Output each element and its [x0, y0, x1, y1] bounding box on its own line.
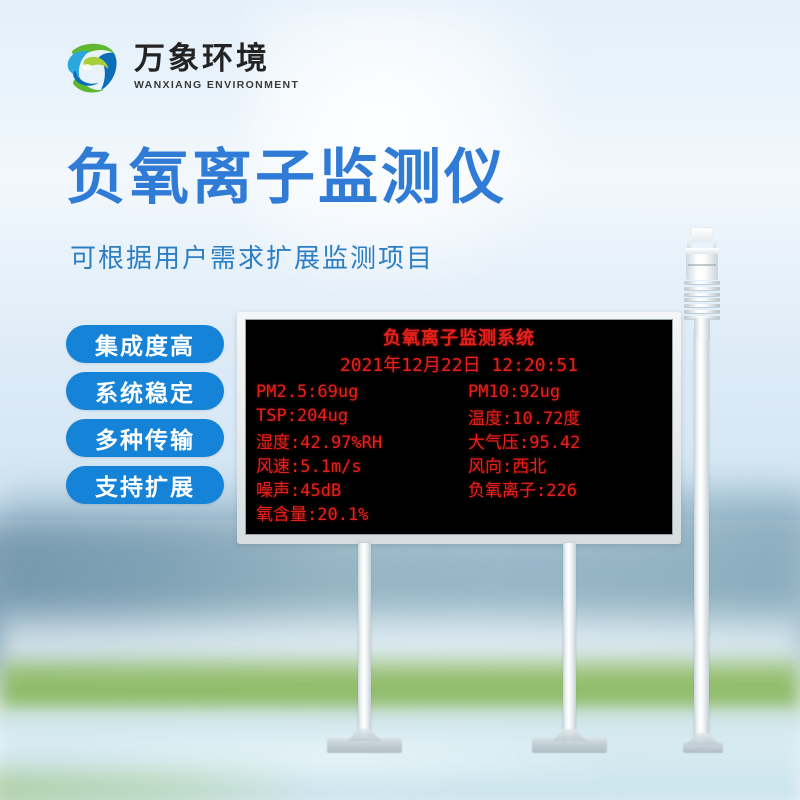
reading-tsp: TSP:204ug: [256, 404, 458, 428]
shield-plate: [684, 293, 720, 296]
feature-badge-list: 集成度高 系统稳定 多种传输 支持扩展: [66, 325, 224, 504]
led-readings-grid: PM2.5:69ug PM10:92ug TSP:204ug 温度:10.72度…: [248, 380, 670, 524]
sensor-mast-pole: [694, 330, 709, 747]
reading-pressure: 大气压:95.42: [462, 428, 664, 452]
reading-wind-direction: 风向:西北: [462, 452, 664, 476]
page-title: 负氧离子监测仪: [66, 148, 507, 208]
feature-badge-label: 集成度高: [95, 327, 195, 361]
feature-badge: 系统稳定: [66, 372, 224, 410]
sensor-top-cap: [691, 228, 713, 241]
led-screen: 负氧离子监测系统 2021年12月22日 12:20:51 PM2.5:69ug…: [248, 322, 670, 532]
reading-noise: 噪声:45dB: [256, 476, 458, 500]
brand-logo: 万象环境 WANXIANG ENVIRONMENT: [62, 36, 299, 98]
pole-base-plate-right: [532, 738, 607, 753]
shield-plate: [684, 304, 720, 307]
globe-swoosh-icon: [62, 36, 124, 98]
display-support-pole-right: [563, 543, 576, 743]
feature-badge: 支持扩展: [66, 466, 224, 504]
shield-plate: [684, 298, 720, 301]
brand-name-en: WANXIANG ENVIRONMENT: [134, 79, 299, 91]
sensor-main-body: [686, 254, 718, 280]
product-poster: 万象环境 WANXIANG ENVIRONMENT 负氧离子监测仪 可根据用户需…: [0, 0, 800, 800]
page-subtitle: 可根据用户需求扩展监测项目: [70, 238, 434, 275]
reading-pm25: PM2.5:69ug: [256, 380, 458, 404]
feature-badge-label: 支持扩展: [95, 468, 195, 502]
reading-oxygen-content: 氧含量:20.1%: [256, 500, 458, 524]
feature-badge-label: 多种传输: [95, 421, 195, 455]
pole-base-plate-left: [327, 738, 402, 753]
ultrasonic-weather-sensor: [682, 228, 722, 338]
brand-name-cn: 万象环境: [134, 43, 299, 76]
shield-plate: [684, 310, 720, 313]
reading-negative-oxygen-ion: 负氧离子:226: [462, 476, 664, 500]
display-support-pole-left: [358, 543, 371, 743]
reading-humidity: 湿度:42.97%RH: [256, 428, 458, 452]
feature-badge: 集成度高: [66, 325, 224, 363]
led-screen-datetime: 2021年12月22日 12:20:51: [248, 351, 670, 377]
shield-plate: [684, 281, 720, 284]
sensor-neck: [694, 318, 710, 340]
feature-badge: 多种传输: [66, 419, 224, 457]
foreground-grass: [0, 770, 310, 800]
led-screen-title: 负氧离子监测系统: [248, 324, 670, 350]
reading-temperature: 温度:10.72度: [462, 404, 664, 428]
feature-badge-label: 系统稳定: [95, 374, 195, 408]
reading-pm10: PM10:92ug: [462, 380, 664, 404]
brand-text-block: 万象环境 WANXIANG ENVIRONMENT: [134, 43, 299, 91]
shield-plate: [684, 287, 720, 290]
radiation-shield: [684, 281, 720, 319]
reading-wind-speed: 风速:5.1m/s: [256, 452, 458, 476]
led-display-bezel: 负氧离子监测系统 2021年12月22日 12:20:51 PM2.5:69ug…: [245, 319, 673, 535]
mast-base-plate: [683, 742, 723, 753]
led-display-board: 负氧离子监测系统 2021年12月22日 12:20:51 PM2.5:69ug…: [237, 312, 681, 544]
